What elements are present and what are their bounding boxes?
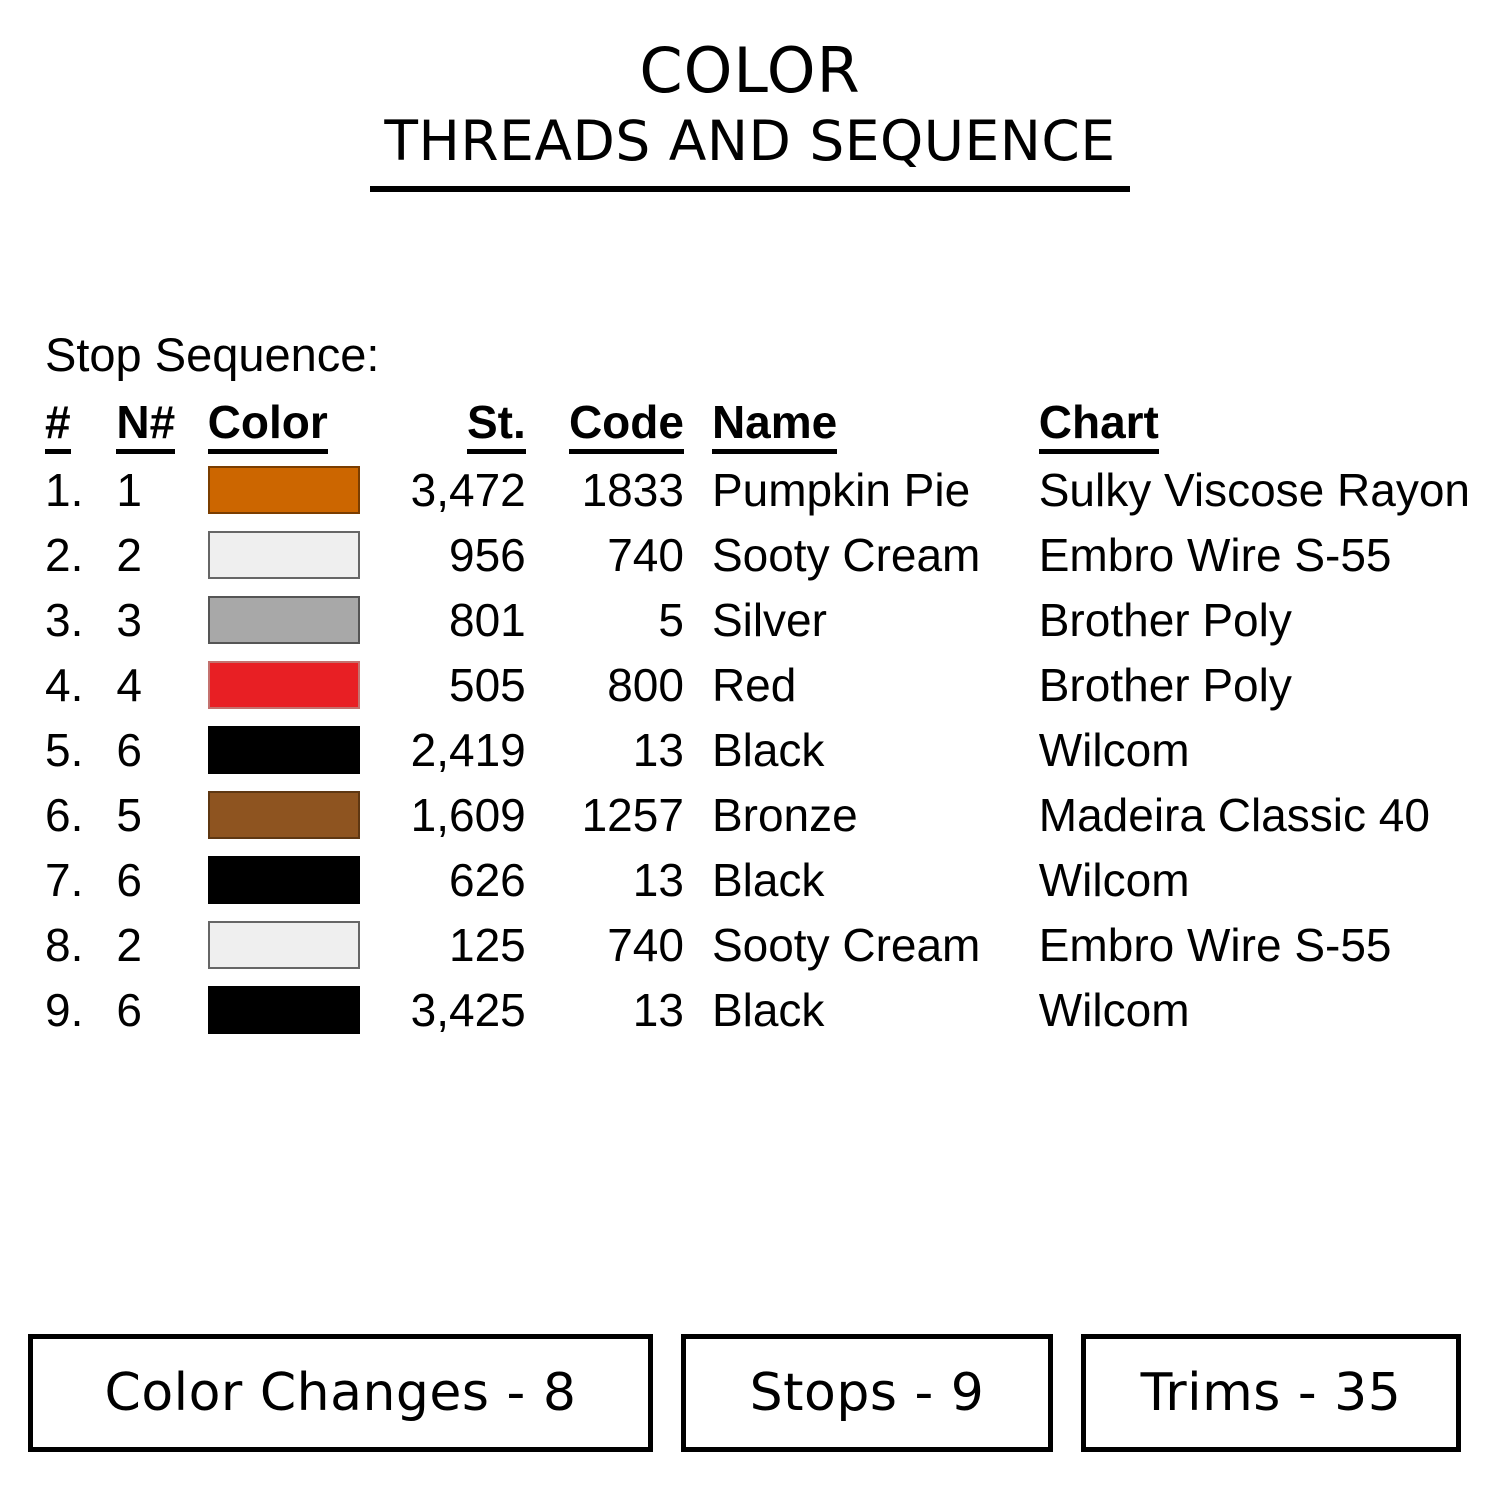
cell-index: 5.	[40, 718, 100, 783]
table-row[interactable]: 2.2956740Sooty CreamEmbro Wire S-55	[40, 523, 1470, 588]
color-swatch	[208, 726, 360, 774]
column-header-index: #	[40, 398, 100, 458]
cell-chart: Wilcom	[1025, 978, 1470, 1043]
cell-code: 13	[544, 978, 698, 1043]
cell-stitches: 801	[378, 588, 543, 653]
cell-code: 740	[544, 523, 698, 588]
cell-stitches: 505	[378, 653, 543, 718]
color-swatch	[208, 921, 360, 969]
cell-needle: 6	[100, 848, 197, 913]
color-changes-box: Color Changes - 8	[28, 1334, 653, 1452]
cell-needle: 6	[100, 978, 197, 1043]
cell-needle: 2	[100, 523, 197, 588]
cell-needle: 6	[100, 718, 197, 783]
table-row[interactable]: 4.4505800RedBrother Poly	[40, 653, 1470, 718]
table-row[interactable]: 6.51,6091257BronzeMadeira Classic 40	[40, 783, 1470, 848]
table-row[interactable]: 8.2125740Sooty CreamEmbro Wire S-55	[40, 913, 1470, 978]
cell-index: 3.	[40, 588, 100, 653]
cell-color-swatch	[198, 783, 379, 848]
summary-boxes: Color Changes - 8 Stops - 9 Trims - 35	[28, 1334, 1468, 1452]
stop-sequence-label: Stop Sequence:	[45, 327, 380, 383]
cell-stitches: 3,472	[378, 458, 543, 523]
cell-stitches: 3,425	[378, 978, 543, 1043]
page-subtitle-underline: THREADS AND SEQUENCE	[370, 110, 1129, 192]
cell-chart: Embro Wire S-55	[1025, 523, 1470, 588]
table-head: # N# Color St. Code Name Chart	[40, 398, 1470, 458]
table-row[interactable]: 5.62,41913BlackWilcom	[40, 718, 1470, 783]
cell-name: Bronze	[698, 783, 1025, 848]
column-header-stitches: St.	[378, 398, 543, 458]
page-title: COLOR	[0, 36, 1500, 106]
cell-chart: Wilcom	[1025, 848, 1470, 913]
cell-chart: Sulky Viscose Rayon	[1025, 458, 1470, 523]
cell-name: Sooty Cream	[698, 523, 1025, 588]
column-header-color: Color	[198, 398, 379, 458]
cell-stitches: 626	[378, 848, 543, 913]
column-header-needle: N#	[100, 398, 197, 458]
cell-code: 1833	[544, 458, 698, 523]
cell-needle: 5	[100, 783, 197, 848]
cell-color-swatch	[198, 848, 379, 913]
cell-name: Pumpkin Pie	[698, 458, 1025, 523]
column-header-name: Name	[698, 398, 1025, 458]
cell-chart: Madeira Classic 40	[1025, 783, 1470, 848]
cell-color-swatch	[198, 588, 379, 653]
table-row[interactable]: 7.662613BlackWilcom	[40, 848, 1470, 913]
cell-name: Black	[698, 848, 1025, 913]
cell-index: 6.	[40, 783, 100, 848]
cell-needle: 2	[100, 913, 197, 978]
cell-stitches: 1,609	[378, 783, 543, 848]
cell-code: 13	[544, 848, 698, 913]
cell-name: Sooty Cream	[698, 913, 1025, 978]
cell-code: 5	[544, 588, 698, 653]
cell-index: 4.	[40, 653, 100, 718]
cell-index: 8.	[40, 913, 100, 978]
cell-needle: 4	[100, 653, 197, 718]
cell-chart: Embro Wire S-55	[1025, 913, 1470, 978]
document-header: COLOR THREADS AND SEQUENCE	[0, 36, 1500, 192]
table-row[interactable]: 1.13,4721833Pumpkin PieSulky Viscose Ray…	[40, 458, 1470, 523]
cell-code: 740	[544, 913, 698, 978]
color-swatch	[208, 986, 360, 1034]
cell-name: Red	[698, 653, 1025, 718]
table-row[interactable]: 3.38015SilverBrother Poly	[40, 588, 1470, 653]
cell-index: 9.	[40, 978, 100, 1043]
cell-code: 1257	[544, 783, 698, 848]
cell-code: 800	[544, 653, 698, 718]
color-swatch	[208, 596, 360, 644]
column-header-code: Code	[544, 398, 698, 458]
cell-stitches: 2,419	[378, 718, 543, 783]
cell-index: 7.	[40, 848, 100, 913]
table-body: 1.13,4721833Pumpkin PieSulky Viscose Ray…	[40, 458, 1470, 1043]
cell-name: Black	[698, 978, 1025, 1043]
cell-color-swatch	[198, 718, 379, 783]
cell-stitches: 956	[378, 523, 543, 588]
cell-name: Black	[698, 718, 1025, 783]
cell-color-swatch	[198, 978, 379, 1043]
color-swatch	[208, 531, 360, 579]
cell-color-swatch	[198, 458, 379, 523]
cell-color-swatch	[198, 523, 379, 588]
stops-box: Stops - 9	[681, 1334, 1053, 1452]
color-swatch	[208, 791, 360, 839]
table-row[interactable]: 9.63,42513BlackWilcom	[40, 978, 1470, 1043]
table-header-row: # N# Color St. Code Name Chart	[40, 398, 1470, 458]
column-header-chart: Chart	[1025, 398, 1470, 458]
cell-needle: 1	[100, 458, 197, 523]
cell-code: 13	[544, 718, 698, 783]
cell-color-swatch	[198, 653, 379, 718]
cell-stitches: 125	[378, 913, 543, 978]
page-subtitle: THREADS AND SEQUENCE	[384, 110, 1115, 172]
cell-color-swatch	[198, 913, 379, 978]
cell-chart: Brother Poly	[1025, 588, 1470, 653]
cell-index: 2.	[40, 523, 100, 588]
cell-name: Silver	[698, 588, 1025, 653]
cell-chart: Wilcom	[1025, 718, 1470, 783]
cell-needle: 3	[100, 588, 197, 653]
color-swatch	[208, 466, 360, 514]
cell-chart: Brother Poly	[1025, 653, 1470, 718]
stop-sequence-table: # N# Color St. Code Name Chart 1.13,4721…	[40, 398, 1470, 1043]
cell-index: 1.	[40, 458, 100, 523]
color-swatch	[208, 856, 360, 904]
trims-box: Trims - 35	[1081, 1334, 1461, 1452]
color-swatch	[208, 661, 360, 709]
